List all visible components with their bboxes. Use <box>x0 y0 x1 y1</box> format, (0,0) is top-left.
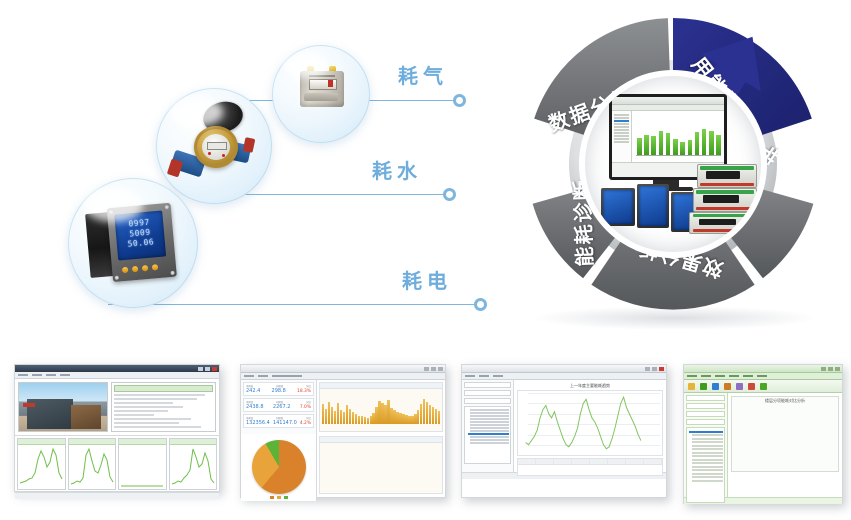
toolbar-icon-new[interactable] <box>688 383 695 390</box>
bubble-water-meter <box>156 88 272 204</box>
kpi-value: 242.4 <box>246 388 260 394</box>
meter-button-2[interactable] <box>132 266 139 273</box>
screenshot-energy-dashboard[interactable]: 本期值 同期值 同比 242.4 298.8 18.3% 本期值 同期值 同比 … <box>240 364 446 498</box>
toolbar-icon-refresh[interactable] <box>748 383 755 390</box>
kpi-value: 132356.4 <box>246 420 270 426</box>
din-device-1 <box>697 164 757 188</box>
menubar[interactable] <box>462 373 666 380</box>
filter-tree-panel[interactable] <box>684 393 728 497</box>
pie-icon <box>252 440 306 494</box>
kpi-compare: 298.8 <box>272 388 286 394</box>
kpi-compare: 2267.2 <box>273 404 291 410</box>
minimize-icon[interactable] <box>424 367 429 371</box>
device-tree[interactable] <box>464 406 511 464</box>
toolbar[interactable] <box>241 373 445 380</box>
meter-button-1[interactable] <box>122 267 129 274</box>
screenshot-energy-compare[interactable]: 楼层分项能耗对比分析 <box>683 364 843 504</box>
energy-composition-pie-chart[interactable] <box>241 434 317 501</box>
power-meter-icon: 0997 5009 50.06 <box>85 202 185 288</box>
bubble-power-meter: 0997 5009 50.06 <box>68 178 198 308</box>
filter-field-4[interactable] <box>686 419 725 425</box>
kpi-delta: 18.3% <box>297 389 311 394</box>
maximize-icon[interactable] <box>205 367 210 371</box>
chart-title: 上一年度主要能耗趋势 <box>517 383 663 389</box>
kpi-compare: 141147.0 <box>273 420 297 426</box>
close-icon[interactable] <box>212 367 217 371</box>
menubar[interactable] <box>15 372 219 379</box>
power-node-icon <box>474 298 487 311</box>
din-device-3 <box>689 212 755 234</box>
kpi-value: 2438.8 <box>246 404 264 410</box>
kpi-card[interactable]: 本期值 同期值 同比 132356.4 141147.0 4.2% <box>243 414 314 428</box>
data-table[interactable] <box>517 458 663 476</box>
lcd-meter-2 <box>637 184 669 228</box>
monitor-bar-chart <box>632 111 724 162</box>
water-node-icon <box>443 188 456 201</box>
minimize-icon[interactable] <box>821 367 826 371</box>
din-device-2 <box>693 188 757 212</box>
filter-field-1[interactable] <box>686 395 725 401</box>
close-icon[interactable] <box>835 367 840 371</box>
toolbar-icon-print[interactable] <box>724 383 731 390</box>
kpi-delta: 4.2% <box>300 421 311 426</box>
filter-tree-panel[interactable] <box>462 380 514 472</box>
kpi-delta-label: 同比 <box>306 384 311 388</box>
kpi-delta-label: 同比 <box>306 416 311 420</box>
power-meter-value-3: 50.06 <box>120 237 163 251</box>
trend-line-chart[interactable] <box>517 390 663 456</box>
poster-canvas: 耗气 耗水 耗电 <box>0 0 851 520</box>
connector-line-power <box>108 304 479 305</box>
category-compare-bar-chart[interactable] <box>319 436 443 494</box>
building-photo <box>18 382 108 432</box>
monitor-tree-panel <box>612 111 632 162</box>
titlebar <box>462 365 666 373</box>
kpi-delta-label: 同比 <box>306 400 311 404</box>
maximize-icon[interactable] <box>431 367 436 371</box>
lcd-meter-1 <box>601 188 635 226</box>
chart-electricity[interactable] <box>17 438 66 490</box>
statusbar <box>15 492 219 499</box>
kpi-delta: 7.0% <box>300 405 311 410</box>
screenshot-energy-trend[interactable]: 上一年度主要能耗趋势 <box>461 364 667 498</box>
filter-field-2[interactable] <box>464 390 511 396</box>
titlebar <box>15 365 219 372</box>
toolbar-icon-save[interactable] <box>712 383 719 390</box>
close-icon[interactable] <box>438 367 443 371</box>
gas-node-icon <box>453 94 466 107</box>
toolbar-icon-open[interactable] <box>700 383 707 390</box>
cycle-center-image <box>585 76 761 252</box>
meter-button-3[interactable] <box>142 265 149 272</box>
kpi-card[interactable]: 本期值 同期值 同比 2438.8 2267.2 7.0% <box>243 398 314 412</box>
toolbar-icon-chart[interactable] <box>760 383 767 390</box>
screenshot-building-overview[interactable] <box>14 364 220 492</box>
menubar[interactable] <box>684 373 842 380</box>
meter-button-4[interactable] <box>152 264 159 271</box>
legend-label-power: 耗电 <box>402 265 452 294</box>
water-meter-icon <box>172 102 258 190</box>
energy-trend-bar-chart[interactable] <box>319 382 443 432</box>
chart-gas[interactable] <box>118 438 167 490</box>
chart-title: 楼层分项能耗对比分析 <box>732 398 838 404</box>
compare-bar-chart[interactable]: 楼层分项能耗对比分析 <box>731 396 839 472</box>
kpi-panel: 本期值 同期值 同比 242.4 298.8 18.3% 本期值 同期值 同比 … <box>241 380 317 434</box>
energy-management-cycle: 用能监测 节能实施 效果分析 能耗诊断 数据分析 <box>523 14 833 332</box>
maximize-icon[interactable] <box>828 367 833 371</box>
legend-label-gas: 耗气 <box>398 60 448 89</box>
filter-field-3[interactable] <box>686 411 725 417</box>
filter-field-2[interactable] <box>686 403 725 409</box>
toolbar-icon-export[interactable] <box>736 383 743 390</box>
building-info-panel <box>111 382 216 432</box>
application-screenshots: 本期值 同期值 同比 242.4 298.8 18.3% 本期值 同期值 同比 … <box>0 358 851 520</box>
toolbar[interactable] <box>684 380 842 393</box>
meters-section: 耗气 耗水 耗电 <box>0 0 520 350</box>
maximize-icon[interactable] <box>652 367 657 371</box>
filter-field-3[interactable] <box>464 398 511 404</box>
chart-total[interactable] <box>169 438 218 490</box>
minimize-icon[interactable] <box>645 367 650 371</box>
kpi-card[interactable]: 本期值 同期值 同比 242.4 298.8 18.3% <box>243 382 314 396</box>
titlebar <box>684 365 842 373</box>
gas-meter-icon <box>298 63 346 109</box>
legend-label-water: 耗水 <box>372 155 422 184</box>
bubble-gas-meter <box>272 45 370 143</box>
minimize-icon[interactable] <box>198 367 203 371</box>
chart-water[interactable] <box>68 438 117 490</box>
titlebar <box>241 365 445 373</box>
close-icon[interactable] <box>659 367 664 371</box>
filter-field-1[interactable] <box>464 382 511 388</box>
location-tree[interactable] <box>686 427 725 503</box>
